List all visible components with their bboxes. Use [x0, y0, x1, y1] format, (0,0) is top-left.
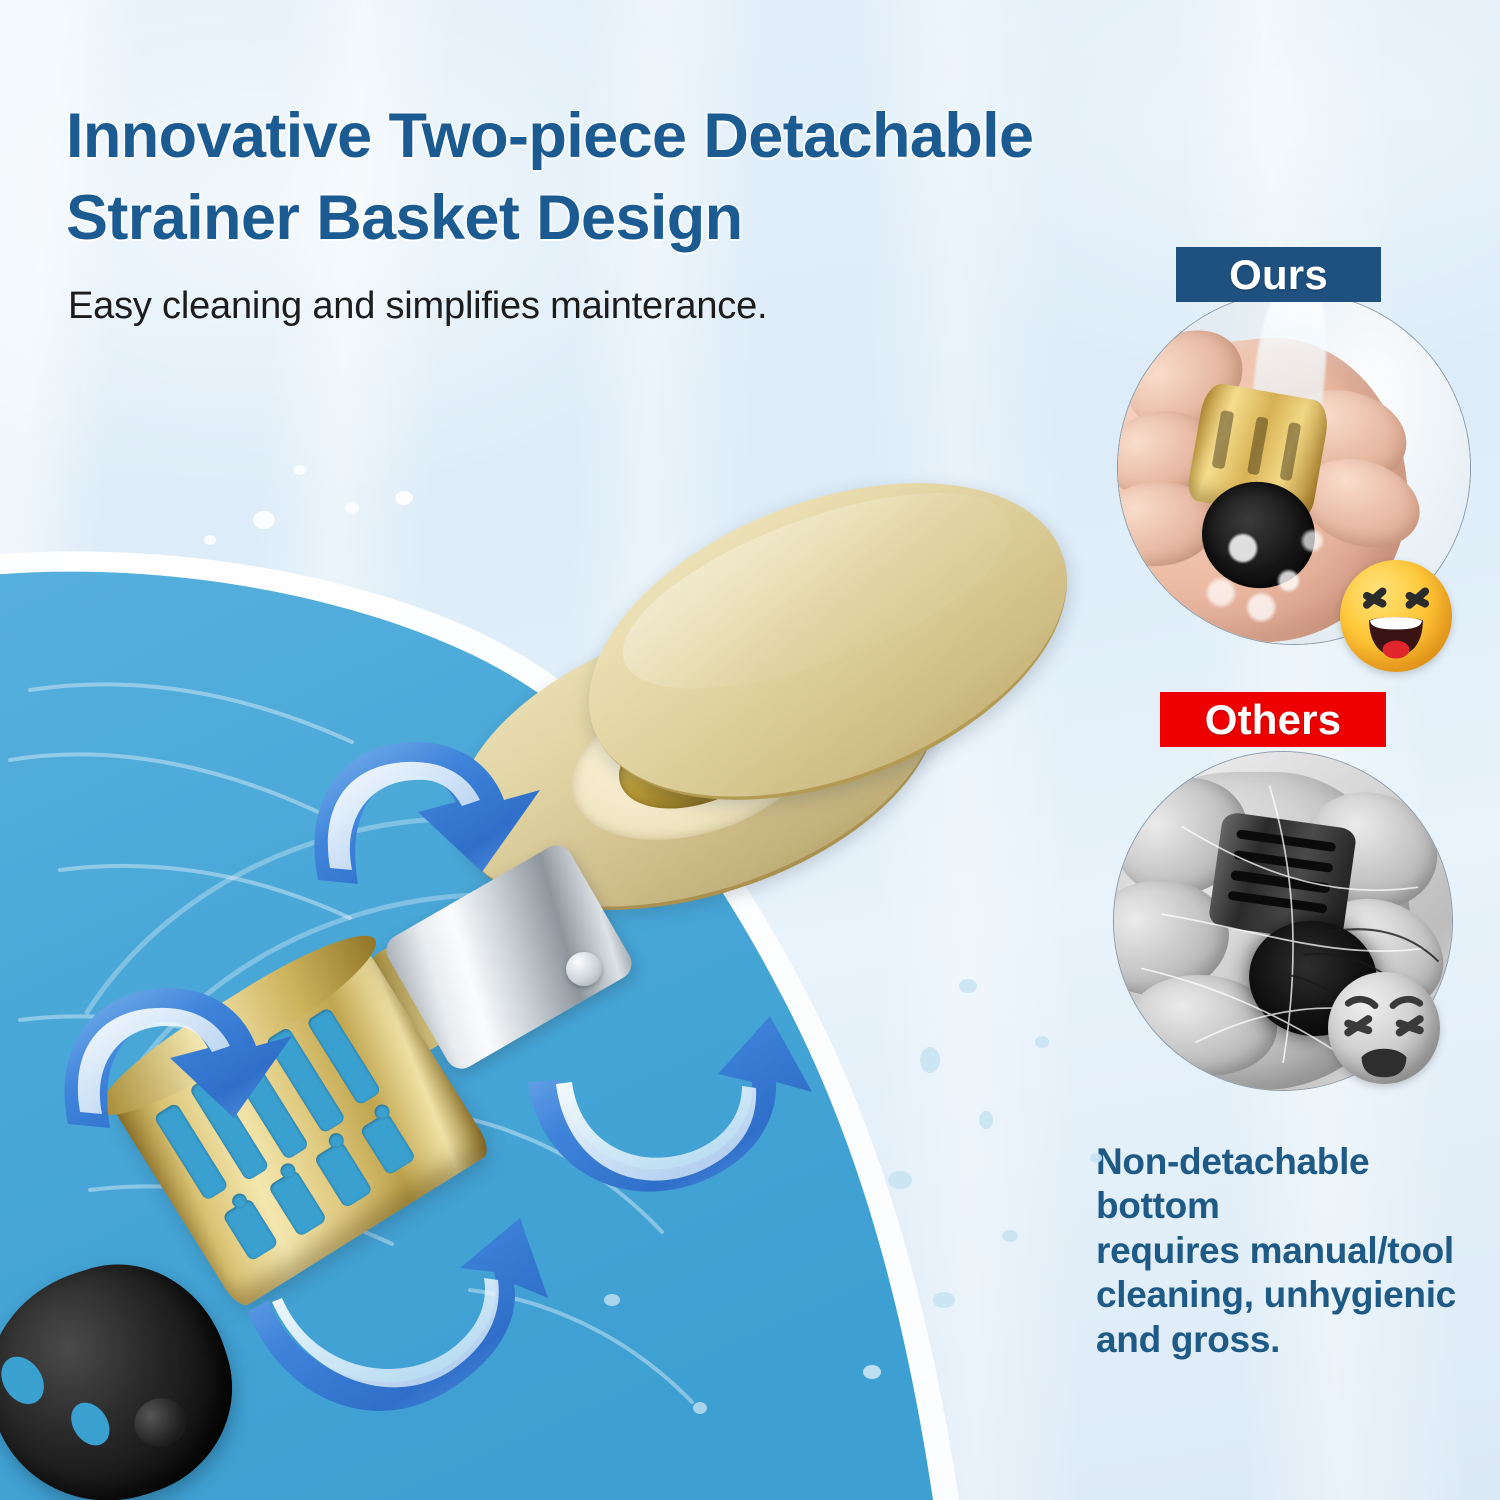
grinning-squinting-face-icon	[1340, 560, 1452, 672]
others-caption-line-2: requires manual/tool	[1096, 1229, 1496, 1273]
others-caption-line-4: and gross.	[1096, 1318, 1496, 1362]
strainer-slot	[1280, 422, 1302, 481]
headline-line-1: Innovative Two-piece Detachable	[66, 96, 1156, 178]
product-infographic: Innovative Two-piece Detachable Strainer…	[0, 0, 1500, 1500]
headline-line-2: Strainer Basket Design	[66, 178, 1156, 260]
headline: Innovative Two-piece Detachable Strainer…	[66, 96, 1156, 260]
others-caption-line-3: cleaning, unhygienic	[1096, 1273, 1496, 1317]
emoji-happy-icon	[1340, 560, 1452, 672]
badge-ours: Ours	[1176, 247, 1381, 302]
others-caption-line-1: Non-detachable bottom	[1096, 1140, 1496, 1229]
others-caption: Non-detachable bottom requires manual/to…	[1096, 1140, 1496, 1362]
badge-others: Others	[1160, 692, 1386, 747]
weary-distressed-face-icon	[1328, 972, 1440, 1084]
emoji-sad-icon	[1328, 972, 1440, 1084]
subheadline: Easy cleaning and simplifies mainterance…	[68, 285, 767, 328]
